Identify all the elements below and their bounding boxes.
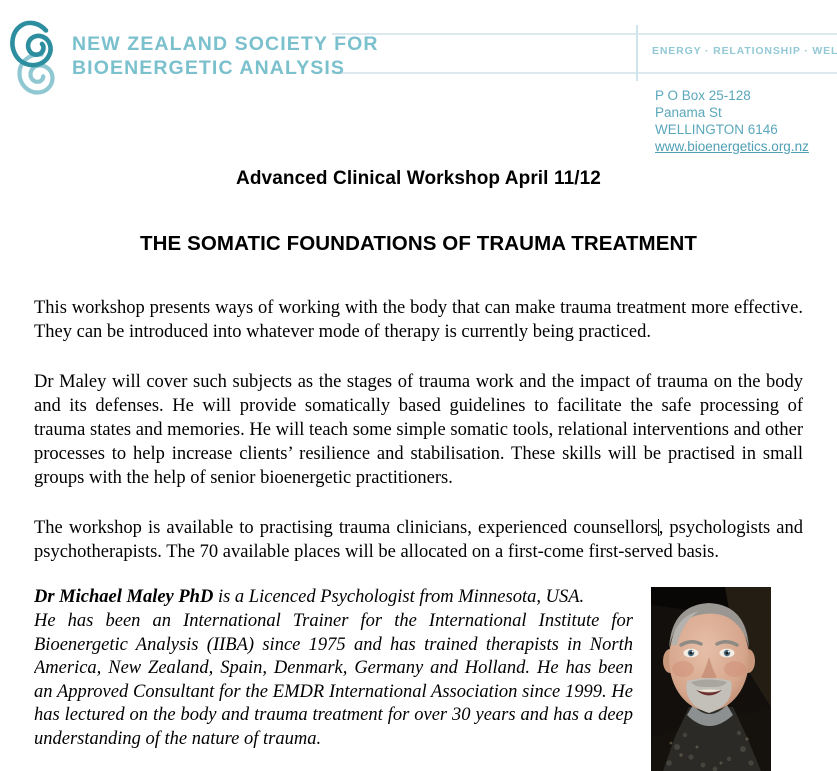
logo-wordmark-line-1: NEW ZEALAND SOCIETY FOR bbox=[72, 33, 379, 55]
workshop-subtitle: THE SOMATIC FOUNDATIONS OF TRAUMA TREATM… bbox=[34, 190, 803, 256]
koru-double-spiral-logo-icon bbox=[8, 14, 64, 100]
paragraph-audience: The workshop is available to practising … bbox=[34, 490, 803, 564]
presenter-bio-body: He has been an International Trainer for… bbox=[34, 611, 633, 749]
address-city: WELLINGTON 6146 bbox=[655, 121, 809, 138]
address-po-box: P O Box 25-128 bbox=[655, 87, 809, 104]
presenter-portrait-photo bbox=[651, 587, 771, 771]
paragraph-audience-part1: The workshop is available to practising … bbox=[34, 518, 658, 538]
letterhead-tagline: ENERGY · RELATIONSHIP · WELLBEING bbox=[652, 45, 837, 57]
document-body: Advanced Clinical Workshop April 11/12 T… bbox=[0, 150, 837, 751]
paragraph-overview: This workshop presents ways of working w… bbox=[34, 256, 803, 344]
presenter-name: Dr Michael Maley PhD bbox=[34, 587, 213, 607]
letterhead: NEW ZEALAND SOCIETY FOR BIOENERGETIC ANA… bbox=[0, 0, 837, 150]
presenter-bio-headline: Dr Michael Maley PhD is a Licenced Psych… bbox=[34, 586, 633, 610]
presenter-credential-line: is a Licenced Psychologist from Minnesot… bbox=[213, 587, 584, 607]
organisation-logo: NEW ZEALAND SOCIETY FOR BIOENERGETIC ANA… bbox=[8, 14, 379, 100]
letterhead-address-block: P O Box 25-128 Panama St WELLINGTON 6146… bbox=[655, 87, 809, 155]
address-street: Panama St bbox=[655, 104, 809, 121]
header-divider-vertical bbox=[636, 25, 638, 81]
paragraph-content-detail: Dr Maley will cover such subjects as the… bbox=[34, 344, 803, 490]
workshop-title: Advanced Clinical Workshop April 11/12 bbox=[34, 150, 803, 190]
presenter-bio-section: Dr Michael Maley PhD is a Licenced Psych… bbox=[34, 564, 803, 751]
logo-wordmark: NEW ZEALAND SOCIETY FOR BIOENERGETIC ANA… bbox=[72, 33, 379, 81]
header-rule-bottom bbox=[332, 72, 837, 74]
header-rule-top bbox=[332, 33, 837, 35]
presenter-bio-text: Dr Michael Maley PhD is a Licenced Psych… bbox=[34, 586, 633, 751]
logo-wordmark-line-2: BIOENERGETIC ANALYSIS bbox=[72, 57, 379, 81]
